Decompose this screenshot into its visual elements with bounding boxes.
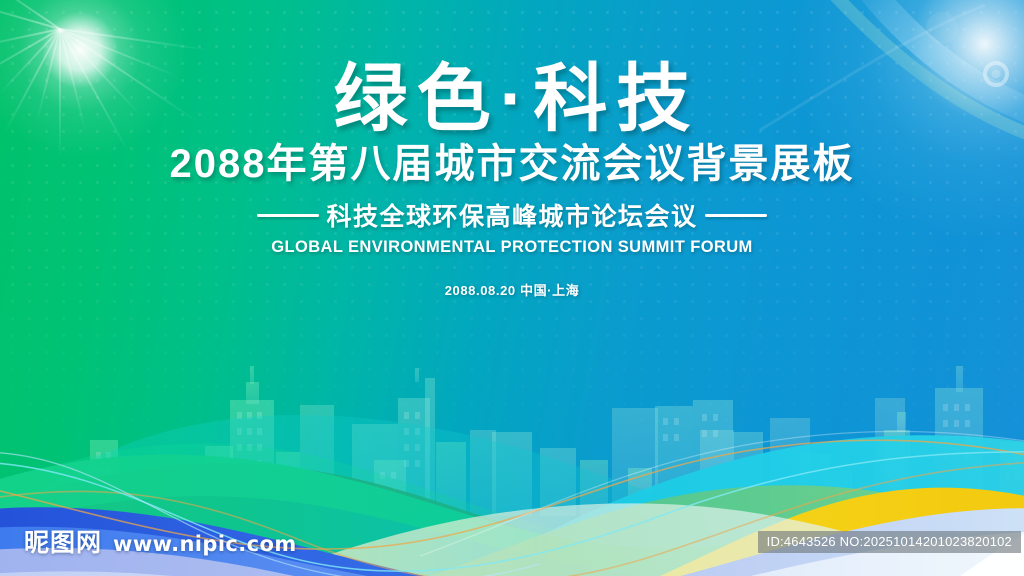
forum-cn-row: 科技全球环保高峰城市论坛会议: [0, 197, 1024, 233]
nipic-url-text: www.nipic.com: [113, 532, 297, 556]
poster-canvas: 绿色·科技 2088年第八届城市交流会议背景展板 科技全球环保高峰城市论坛会议 …: [0, 0, 1024, 576]
page-title: 绿色·科技: [0, 62, 1024, 136]
status-badge: ID:4643526 NO:20251014201023820102: [758, 531, 1021, 553]
headline-block: 绿色·科技 2088年第八届城市交流会议背景展板 科技全球环保高峰城市论坛会议 …: [0, 62, 1024, 299]
divider-dash-left: [257, 214, 319, 217]
forum-title-en: GLOBAL ENVIRONMENTAL PROTECTION SUMMIT F…: [0, 238, 1024, 257]
date-location: 2088.08.20 中国·上海: [0, 280, 1024, 299]
divider-dash-right: [705, 214, 767, 217]
subtitle: 2088年第八届城市交流会议背景展板: [0, 142, 1024, 186]
forum-title-cn: 科技全球环保高峰城市论坛会议: [326, 197, 697, 233]
watermark: 昵图网 www.nipic.com: [24, 523, 297, 559]
nipic-logo-text: 昵图网: [24, 523, 102, 559]
